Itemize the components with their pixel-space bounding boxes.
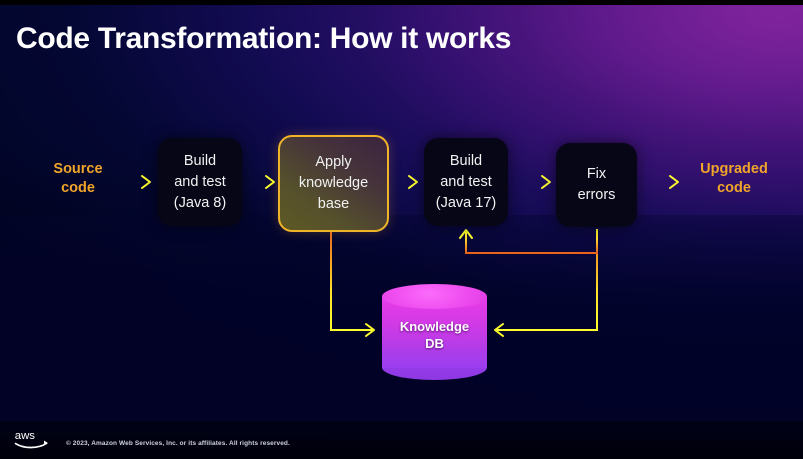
step-line: (Java 17) bbox=[436, 193, 496, 214]
aws-logo-icon: aws bbox=[14, 427, 52, 451]
step-fix-errors[interactable]: Fix errors bbox=[556, 143, 637, 227]
step-line: knowledge bbox=[299, 173, 368, 194]
db-label-line: DB bbox=[382, 335, 487, 352]
upgraded-code-label-line-2: code bbox=[686, 179, 782, 198]
step-build-and-test-java17-text: Build and test (Java 17) bbox=[436, 151, 496, 214]
knowledge-db-label: Knowledge DB bbox=[382, 318, 487, 352]
source-code-label-line-2: code bbox=[36, 179, 120, 198]
step-line: Build bbox=[174, 151, 226, 172]
source-code-label: Source code bbox=[36, 160, 120, 198]
db-label-line: Knowledge bbox=[382, 318, 487, 335]
knowledge-db-cylinder[interactable]: Knowledge DB bbox=[382, 284, 487, 380]
step-apply-knowledge-base-text: Apply knowledge base bbox=[299, 152, 368, 215]
step-line: Fix bbox=[578, 164, 616, 185]
step-apply-knowledge-base[interactable]: Apply knowledge base bbox=[278, 135, 389, 232]
source-code-label-line-1: Source bbox=[36, 160, 120, 179]
step-line: and test bbox=[174, 172, 226, 193]
step-line: Apply bbox=[299, 152, 368, 173]
upgraded-code-label: Upgraded code bbox=[686, 160, 782, 198]
step-build-and-test-java8-text: Build and test (Java 8) bbox=[174, 151, 226, 214]
step-line: and test bbox=[436, 172, 496, 193]
slide-canvas: Code Transformation: How it works bbox=[0, 0, 803, 459]
step-build-and-test-java8[interactable]: Build and test (Java 8) bbox=[158, 138, 242, 226]
step-line: errors bbox=[578, 185, 616, 206]
page-title: Code Transformation: How it works bbox=[16, 22, 511, 56]
step-fix-errors-text: Fix errors bbox=[578, 164, 616, 206]
step-line: base bbox=[299, 194, 368, 215]
step-build-and-test-java17[interactable]: Build and test (Java 17) bbox=[424, 138, 508, 226]
copyright-text: © 2023, Amazon Web Services, Inc. or its… bbox=[66, 440, 290, 447]
cylinder-top-ellipse bbox=[382, 284, 487, 309]
upgraded-code-label-line-1: Upgraded bbox=[686, 160, 782, 179]
step-line: (Java 8) bbox=[174, 193, 226, 214]
svg-text:aws: aws bbox=[15, 430, 36, 442]
step-line: Build bbox=[436, 151, 496, 172]
background-top-strip bbox=[0, 0, 803, 5]
